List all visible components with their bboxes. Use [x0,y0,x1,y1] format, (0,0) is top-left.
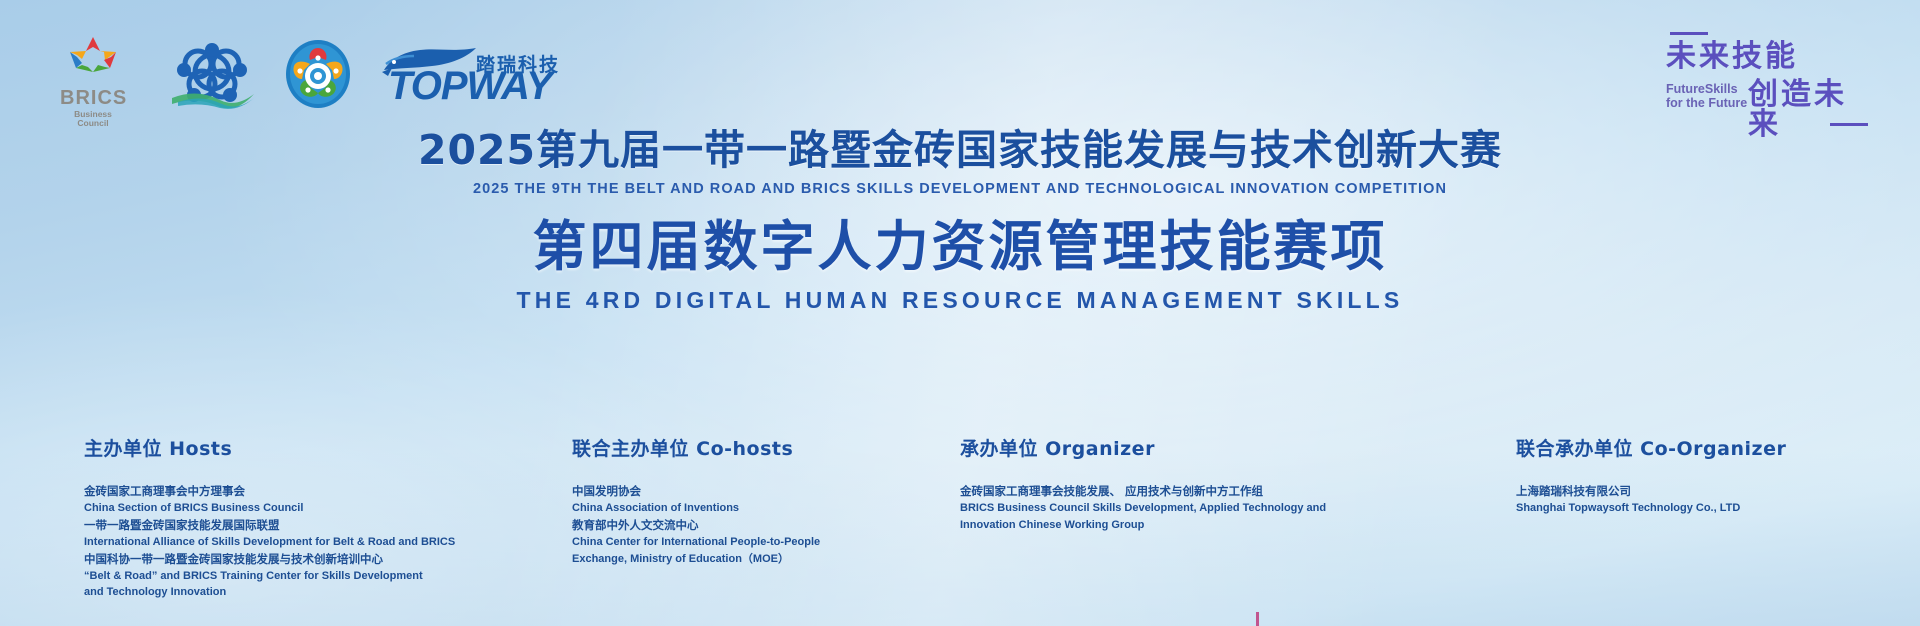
organizer-column-coorganizer: 联合承办单位 Co-Organizer 上海踏瑞科技有限公司 Shanghai … [1516,440,1916,517]
organizer-heading: 主办单位 Hosts [84,440,504,459]
organizer-line: BRICS Business Council Skills Developmen… [960,500,1380,517]
organizer-line: 中国发明协会 [572,483,952,500]
organizer-heading: 承办单位 Organizer [960,440,1380,459]
organizer-line: 教育部中外人文交流中心 [572,517,952,534]
event-banner: BRICS Business Council [0,0,1920,626]
organizer-list: 上海踏瑞科技有限公司 Shanghai Topwaysoft Technolog… [1516,483,1916,517]
organizer-line: China Center for International People-to… [572,534,952,551]
competition-title-en: 2025 THE 9TH THE BELT AND ROAD AND BRICS… [0,181,1920,197]
bottom-marker [1256,612,1259,626]
organizer-line: China Association of Inventions [572,500,952,517]
organizer-list: 中国发明协会 China Association of Inventions 教… [572,483,952,567]
organizer-line: “Belt & Road” and BRICS Training Center … [84,568,504,585]
organizer-line: China Section of BRICS Business Council [84,500,504,517]
brics-skills-emblem-logo [284,38,352,110]
organizer-line: 中国科协一带一路暨金砖国家技能发展与技术创新培训中心 [84,551,504,568]
organizer-columns: 主办单位 Hosts 金砖国家工商理事会中方理事会 China Section … [0,440,1920,620]
organizer-list: 金砖国家工商理事会中方理事会 China Section of BRICS Bu… [84,483,504,601]
organizer-line: 金砖国家工商理事会中方理事会 [84,483,504,500]
organizer-column-hosts: 主办单位 Hosts 金砖国家工商理事会中方理事会 China Section … [84,440,504,601]
organizer-line: Innovation Chinese Working Group [960,517,1380,534]
organizer-line: Exchange, Ministry of Education（MOE） [572,551,952,568]
logo-row: BRICS Business Council [60,34,560,110]
slogan-english-line-1: FutureSkills [1666,82,1747,96]
organizer-heading-en: Co-hosts [696,438,793,460]
brics-logo-title: BRICS [60,88,126,108]
topway-logo: 踏瑞科技 TOPWAY [380,46,560,110]
organizer-list: 金砖国家工商理事会技能发展、 应用技术与创新中方工作组 BRICS Busine… [960,483,1380,533]
title-block: 2025第九届一带一路暨金砖国家技能发展与技术创新大赛 2025 THE 9TH… [0,128,1920,314]
organizer-heading-en: Co-Organizer [1640,438,1786,460]
organizer-line: 一带一路暨金砖国家技能发展国际联盟 [84,517,504,534]
skills-alliance-knot-logo [162,40,262,110]
competition-title-cn: 2025第九届一带一路暨金砖国家技能发展与技术创新大赛 [0,128,1920,174]
slogan-rule-bottom [1830,123,1868,126]
organizer-column-organizer: 承办单位 Organizer 金砖国家工商理事会技能发展、 应用技术与创新中方工… [960,440,1380,533]
slogan-english: FutureSkills for the Future [1666,82,1747,111]
organizer-line: Shanghai Topwaysoft Technology Co., LTD [1516,500,1916,517]
organizer-heading-cn: 联合承办单位 [1516,438,1633,460]
organizer-line: and Technology Innovation [84,584,504,601]
brics-business-council-logo: BRICS Business Council [60,34,126,110]
organizer-column-cohosts: 联合主办单位 Co-hosts 中国发明协会 China Association… [572,440,952,567]
event-subtitle-cn: 第四届数字人力资源管理技能赛项 [0,217,1920,276]
organizer-line: International Alliance of Skills Develop… [84,534,504,551]
organizer-line: 上海踏瑞科技有限公司 [1516,483,1916,500]
brics-logo-subtitle: Business Council [60,110,126,127]
slogan-english-line-2: for the Future [1666,96,1747,110]
future-skills-slogan: 未来技能 FutureSkills for the Future 创造未来 [1548,30,1868,130]
brics-star-icon [64,34,122,86]
organizer-line: 金砖国家工商理事会技能发展、 应用技术与创新中方工作组 [960,483,1380,500]
slogan-rule-top [1670,32,1708,35]
organizer-heading-cn: 主办单位 [84,438,162,460]
topway-english-name: TOPWAY [388,66,552,106]
slogan-line-1: 未来技能 [1666,42,1798,72]
organizer-heading-en: Organizer [1045,438,1155,460]
organizer-heading-cn: 联合主办单位 [572,438,689,460]
event-subtitle-en: THE 4RD DIGITAL HUMAN RESOURCE MANAGEMEN… [0,287,1920,314]
organizer-heading-en: Hosts [169,438,232,460]
organizer-heading: 联合承办单位 Co-Organizer [1516,440,1916,459]
organizer-heading-cn: 承办单位 [960,438,1038,460]
organizer-heading: 联合主办单位 Co-hosts [572,440,952,459]
